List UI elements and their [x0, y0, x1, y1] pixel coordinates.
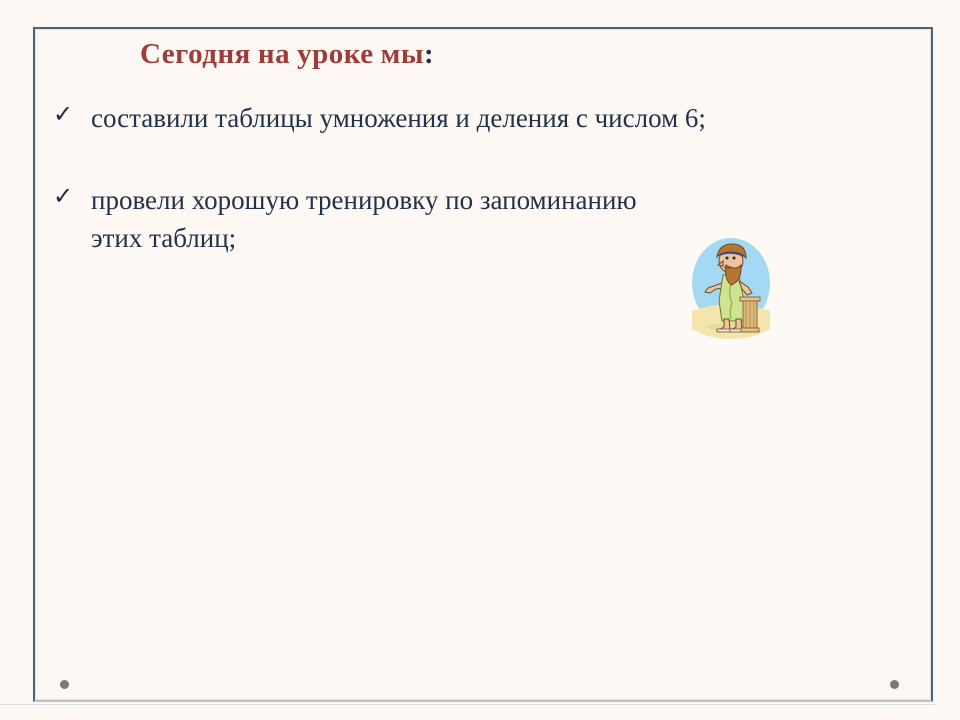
- page-title: Сегоднянаурокемы:: [140, 38, 434, 71]
- bottom-left-dot: [60, 680, 69, 689]
- checkmark-icon: ✓: [53, 102, 73, 126]
- list-item: ✓ составили таблицы умножения и деления …: [45, 100, 930, 137]
- title-word-4: мы: [381, 38, 424, 70]
- list-item-label: провели хорошую тренировку по запоминани…: [91, 182, 691, 257]
- checkmark-icon: ✓: [53, 184, 73, 208]
- slide-frame-bottom-shadow: [0, 704, 935, 705]
- philosopher-clipart-image: [686, 231, 776, 344]
- title-word-2: на: [258, 38, 290, 70]
- list-item-label: составили таблицы умножения и деления с …: [91, 100, 931, 137]
- title-word-3: уроке: [297, 38, 374, 70]
- bottom-right-dot: [890, 680, 899, 689]
- title-colon: :: [424, 38, 434, 70]
- bullet-list: ✓ составили таблицы умножения и деления …: [45, 100, 930, 257]
- title-word-1: Сегодня: [140, 38, 251, 70]
- philosopher-illustration: [686, 231, 776, 344]
- list-item: ✓ провели хорошую тренировку по запомина…: [45, 182, 930, 257]
- slide-canvas: Сегоднянаурокемы: ✓ составили таблицы ум…: [0, 0, 960, 720]
